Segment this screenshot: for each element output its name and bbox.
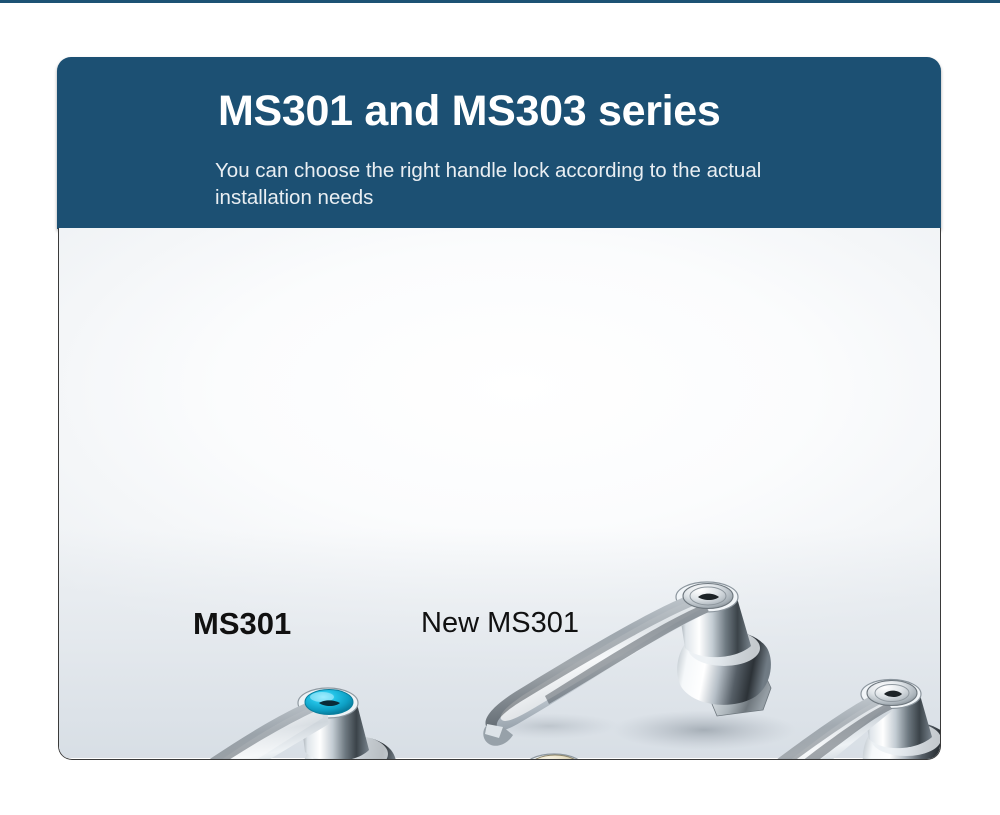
product-image-new-ms303: [724, 663, 941, 760]
page-subtitle: You can choose the right handle lock acc…: [215, 157, 855, 211]
header-banner: MS301 and MS303 series You can choose th…: [57, 57, 941, 229]
product-banner-image: MS301 and MS303 series You can choose th…: [0, 0, 1000, 815]
product-photo-background: MS301 New MS301 MS303 New MS303: [59, 228, 940, 758]
product-label-ms301: MS301: [193, 608, 291, 639]
handle-lock-icon: [384, 728, 654, 760]
product-label-new-ms301: New MS301: [421, 609, 579, 638]
page-title: MS301 and MS303 series: [218, 90, 721, 133]
handle-lock-icon: [724, 663, 941, 760]
product-photo-card: MS301 New MS301 MS303 New MS303: [58, 228, 941, 760]
product-image-ms303: [384, 728, 654, 760]
top-accent-rule: [0, 0, 1000, 3]
